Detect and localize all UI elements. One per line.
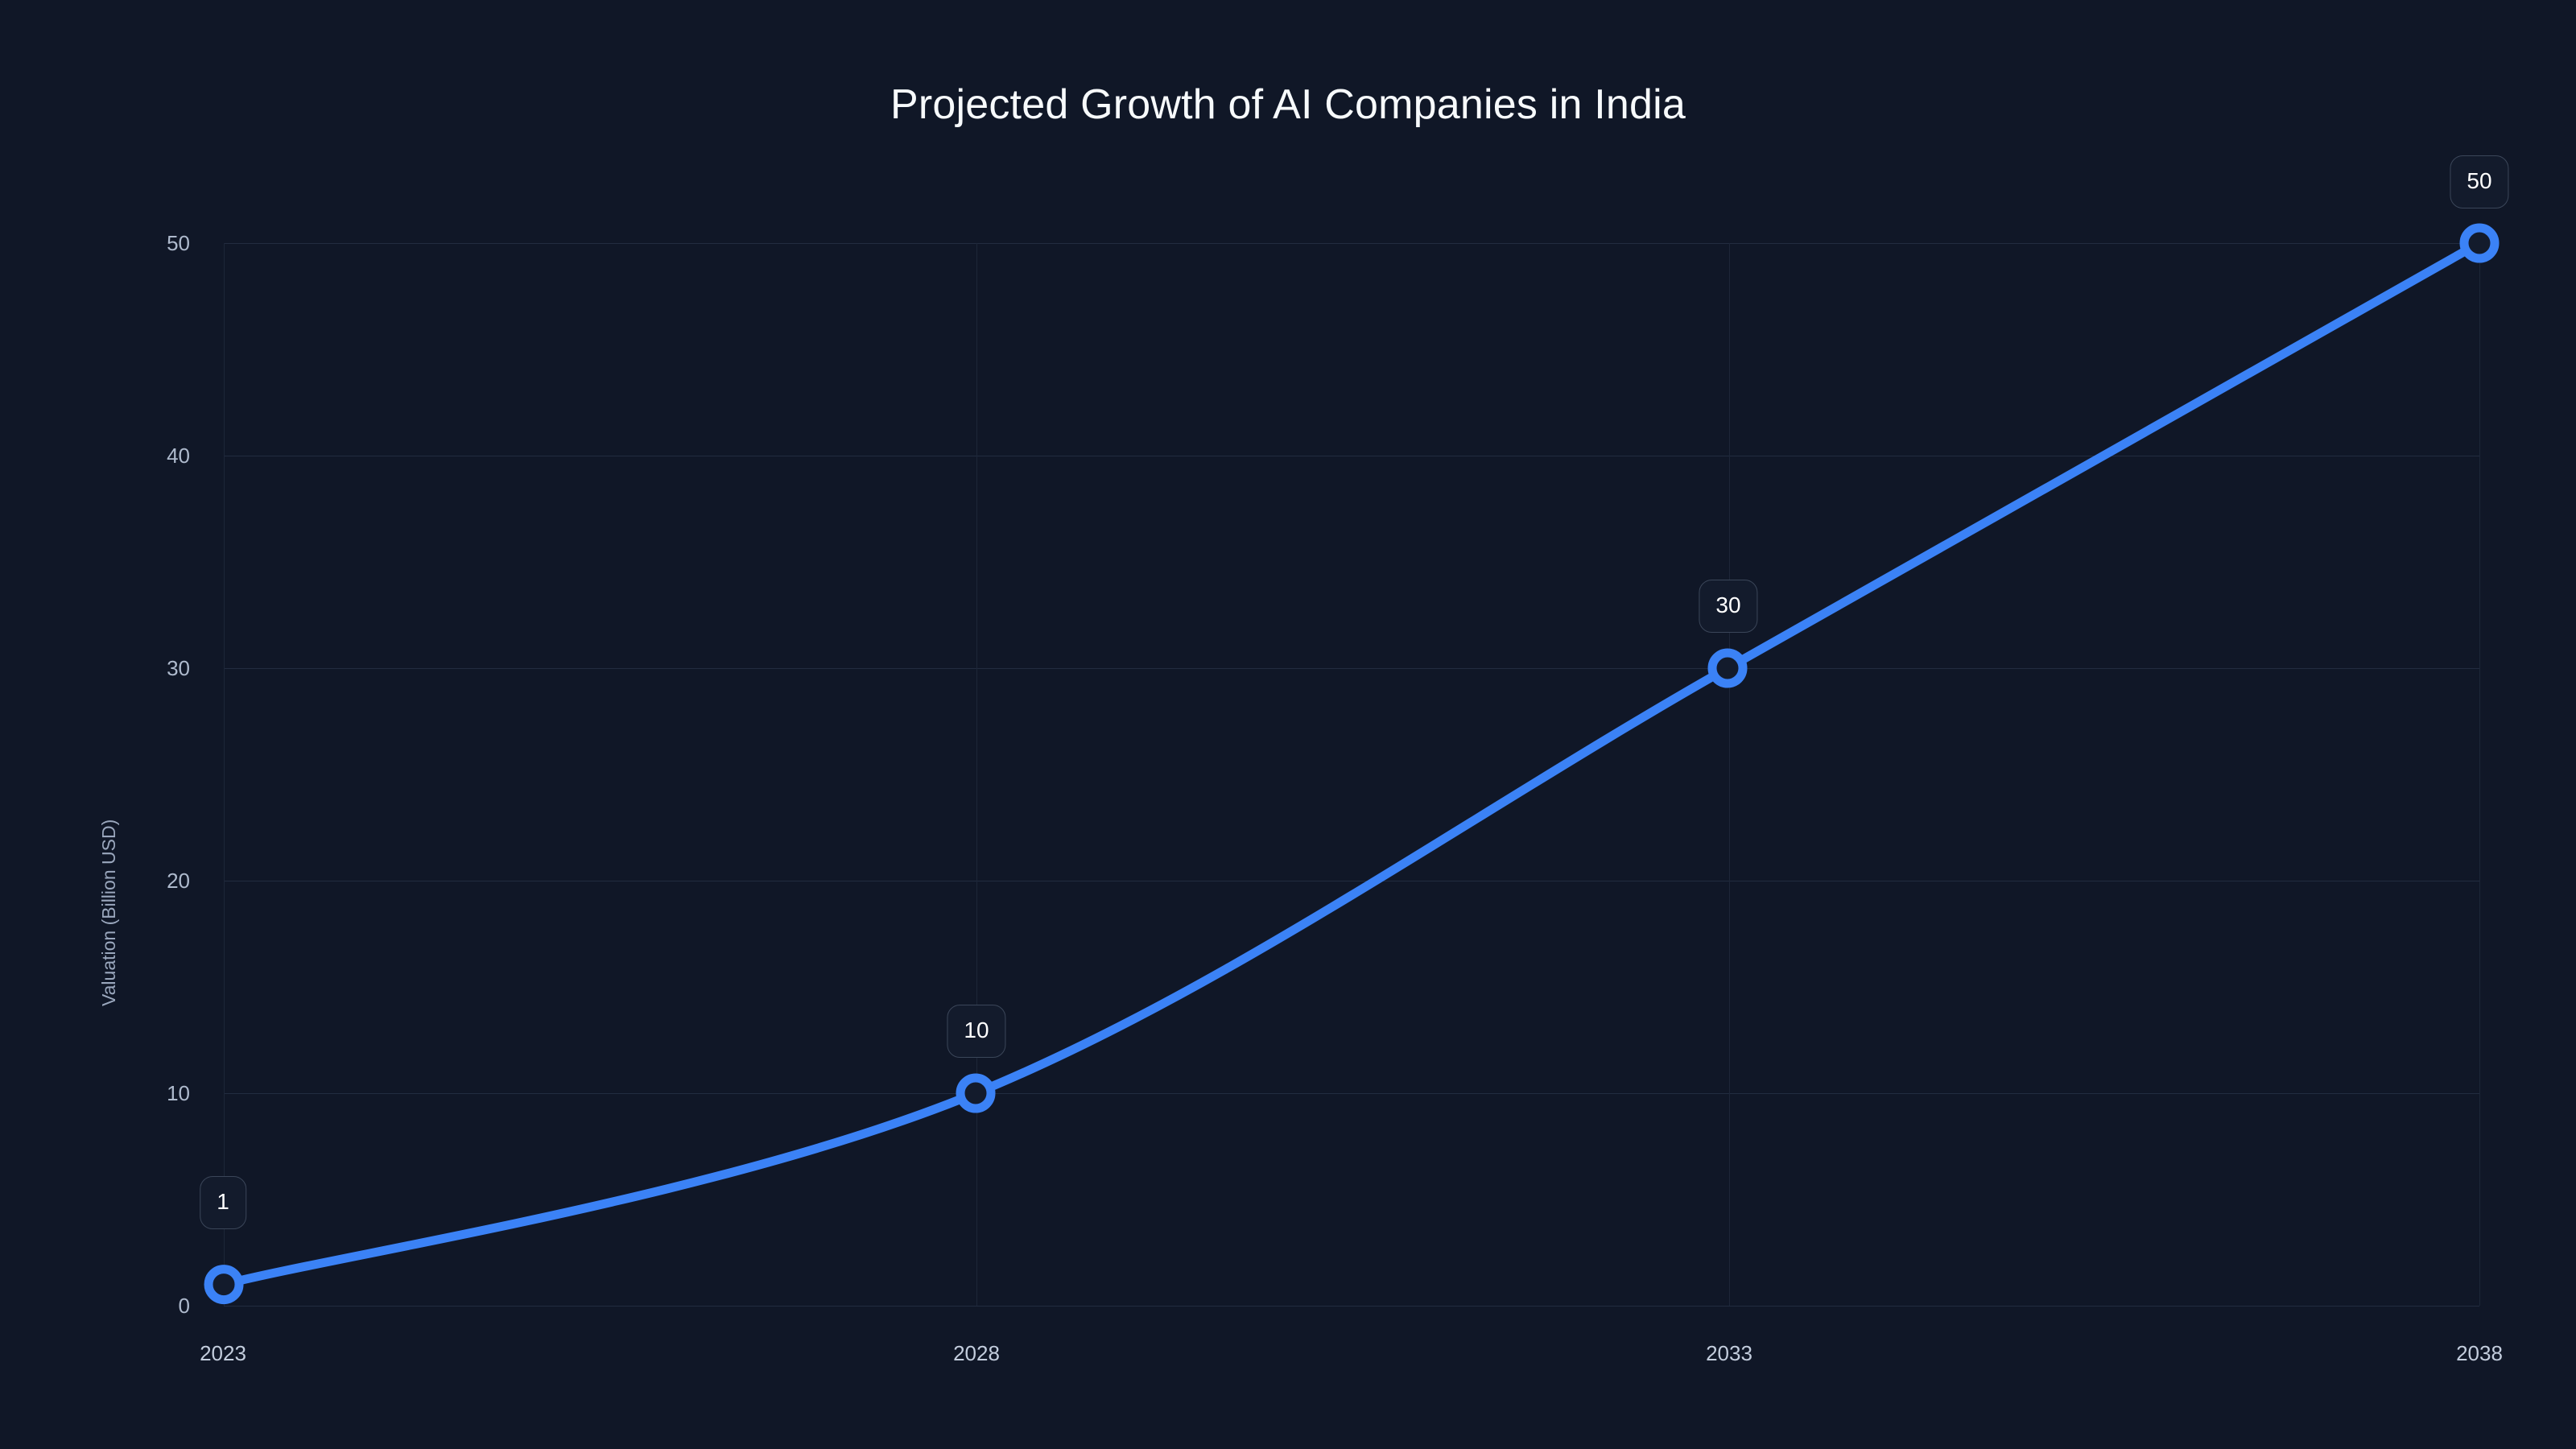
gridline-y-40 [224, 456, 2479, 456]
gridline-y-10 [224, 1093, 2479, 1094]
y-tick-label-0: 0 [13, 1295, 190, 1316]
data-label-2038: 50 [2450, 155, 2508, 208]
x-tick-label-2023: 2023 [102, 1343, 344, 1364]
y-axis-title: Valuation (Billion USD) [95, 523, 122, 1006]
plot-area [224, 243, 2479, 1306]
gridline-x-2028 [976, 243, 977, 1306]
gridline-x-2038 [2479, 243, 2480, 1306]
x-tick-label-2038: 2038 [2359, 1343, 2576, 1364]
gridline-x-2033 [1729, 243, 1730, 1306]
y-tick-label-10: 10 [13, 1083, 190, 1104]
x-tick-label-2033: 2033 [1608, 1343, 1850, 1364]
gridline-y-20 [224, 881, 2479, 881]
chart-canvas: Projected Growth of AI Companies in Indi… [0, 0, 2576, 1449]
y-tick-label-50: 50 [13, 233, 190, 254]
chart-title: Projected Growth of AI Companies in Indi… [0, 84, 2576, 126]
gridline-x-2023 [224, 243, 225, 1306]
y-tick-label-40: 40 [13, 445, 190, 466]
data-label-2023: 1 [200, 1176, 246, 1229]
gridline-y-50 [224, 243, 2479, 244]
y-tick-label-20: 20 [13, 870, 190, 891]
gridline-y-30 [224, 668, 2479, 669]
x-tick-label-2028: 2028 [856, 1343, 1097, 1364]
data-label-2028: 10 [947, 1005, 1005, 1058]
y-tick-label-30: 30 [13, 658, 190, 679]
gridline-y-0 [224, 1306, 2479, 1307]
data-label-2033: 30 [1699, 580, 1757, 633]
